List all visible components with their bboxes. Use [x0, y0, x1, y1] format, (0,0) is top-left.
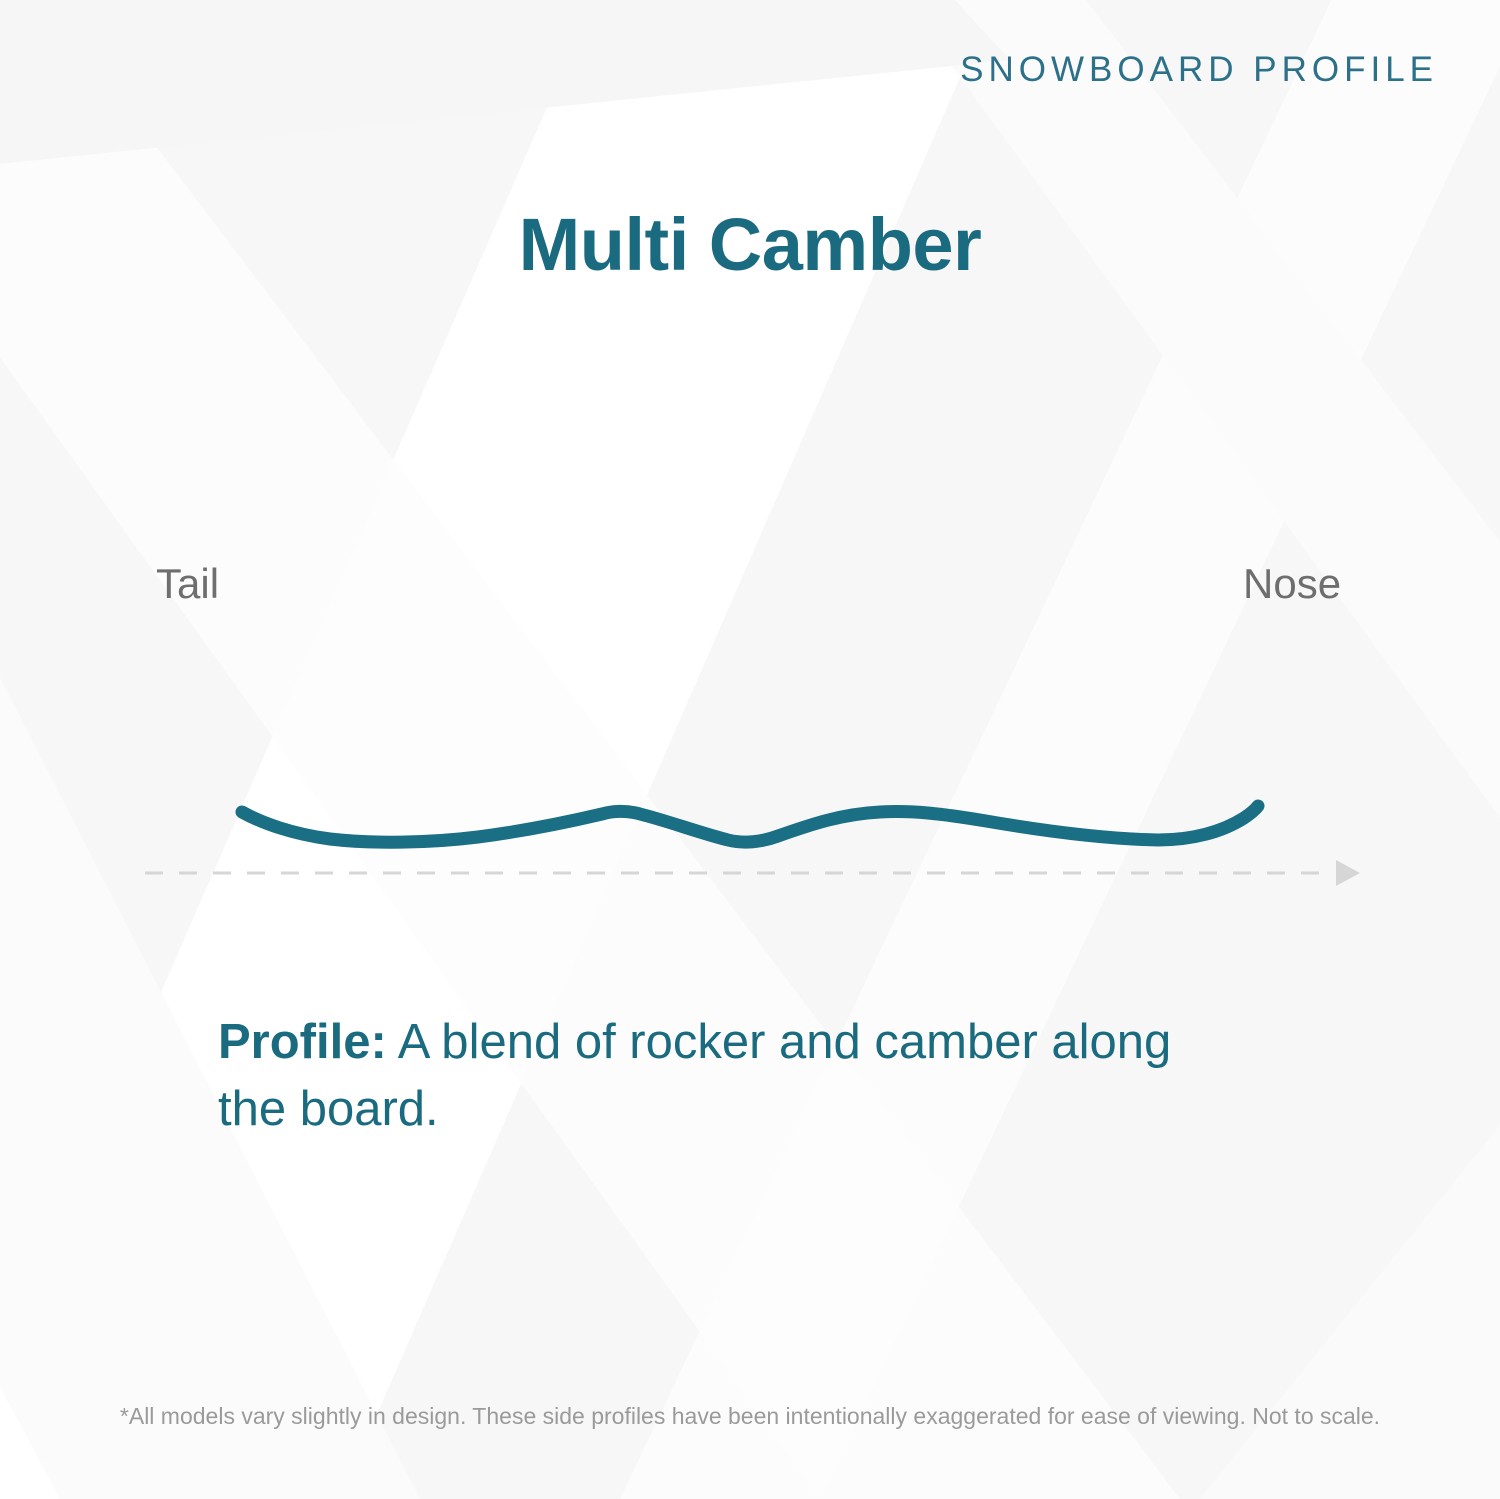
disclaimer-footnote: *All models vary slightly in design. The… — [0, 1403, 1500, 1431]
profile-description-lead: Profile: — [218, 1015, 387, 1069]
board-profile-curve — [242, 806, 1258, 842]
profile-description: Profile: A blend of rocker and camber al… — [218, 1009, 1218, 1142]
tail-label: Tail — [156, 563, 219, 605]
nose-label: Nose — [1243, 563, 1341, 605]
snowboard-profile-card: SNOWBOARD PROFILE Multi Camber Tail Nose… — [0, 0, 1500, 1499]
board-profile-diagram — [0, 740, 1500, 940]
page-eyebrow: SNOWBOARD PROFILE — [960, 52, 1438, 87]
page-title: Multi Camber — [0, 204, 1500, 285]
baseline-arrow-icon — [1336, 860, 1360, 886]
